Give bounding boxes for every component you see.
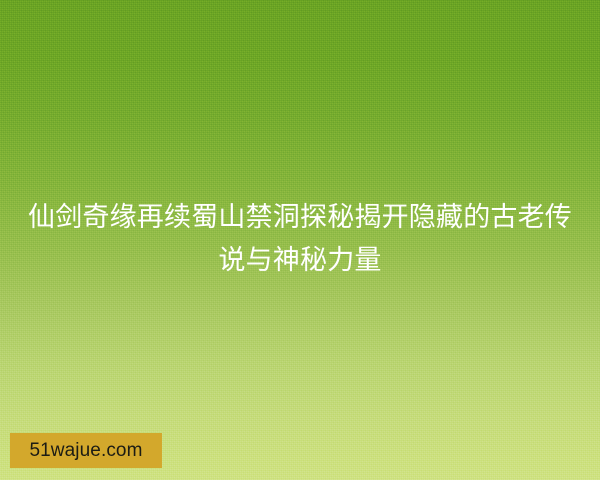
source-watermark-label: 51wajue.com xyxy=(29,441,142,460)
banner-headline: 仙剑奇缘再续蜀山禁洞探秘揭开隐藏的古老传说与神秘力量 xyxy=(0,196,600,282)
promo-banner: 仙剑奇缘再续蜀山禁洞探秘揭开隐藏的古老传说与神秘力量 51wajue.com xyxy=(0,0,600,480)
source-watermark-badge: 51wajue.com xyxy=(10,433,162,468)
